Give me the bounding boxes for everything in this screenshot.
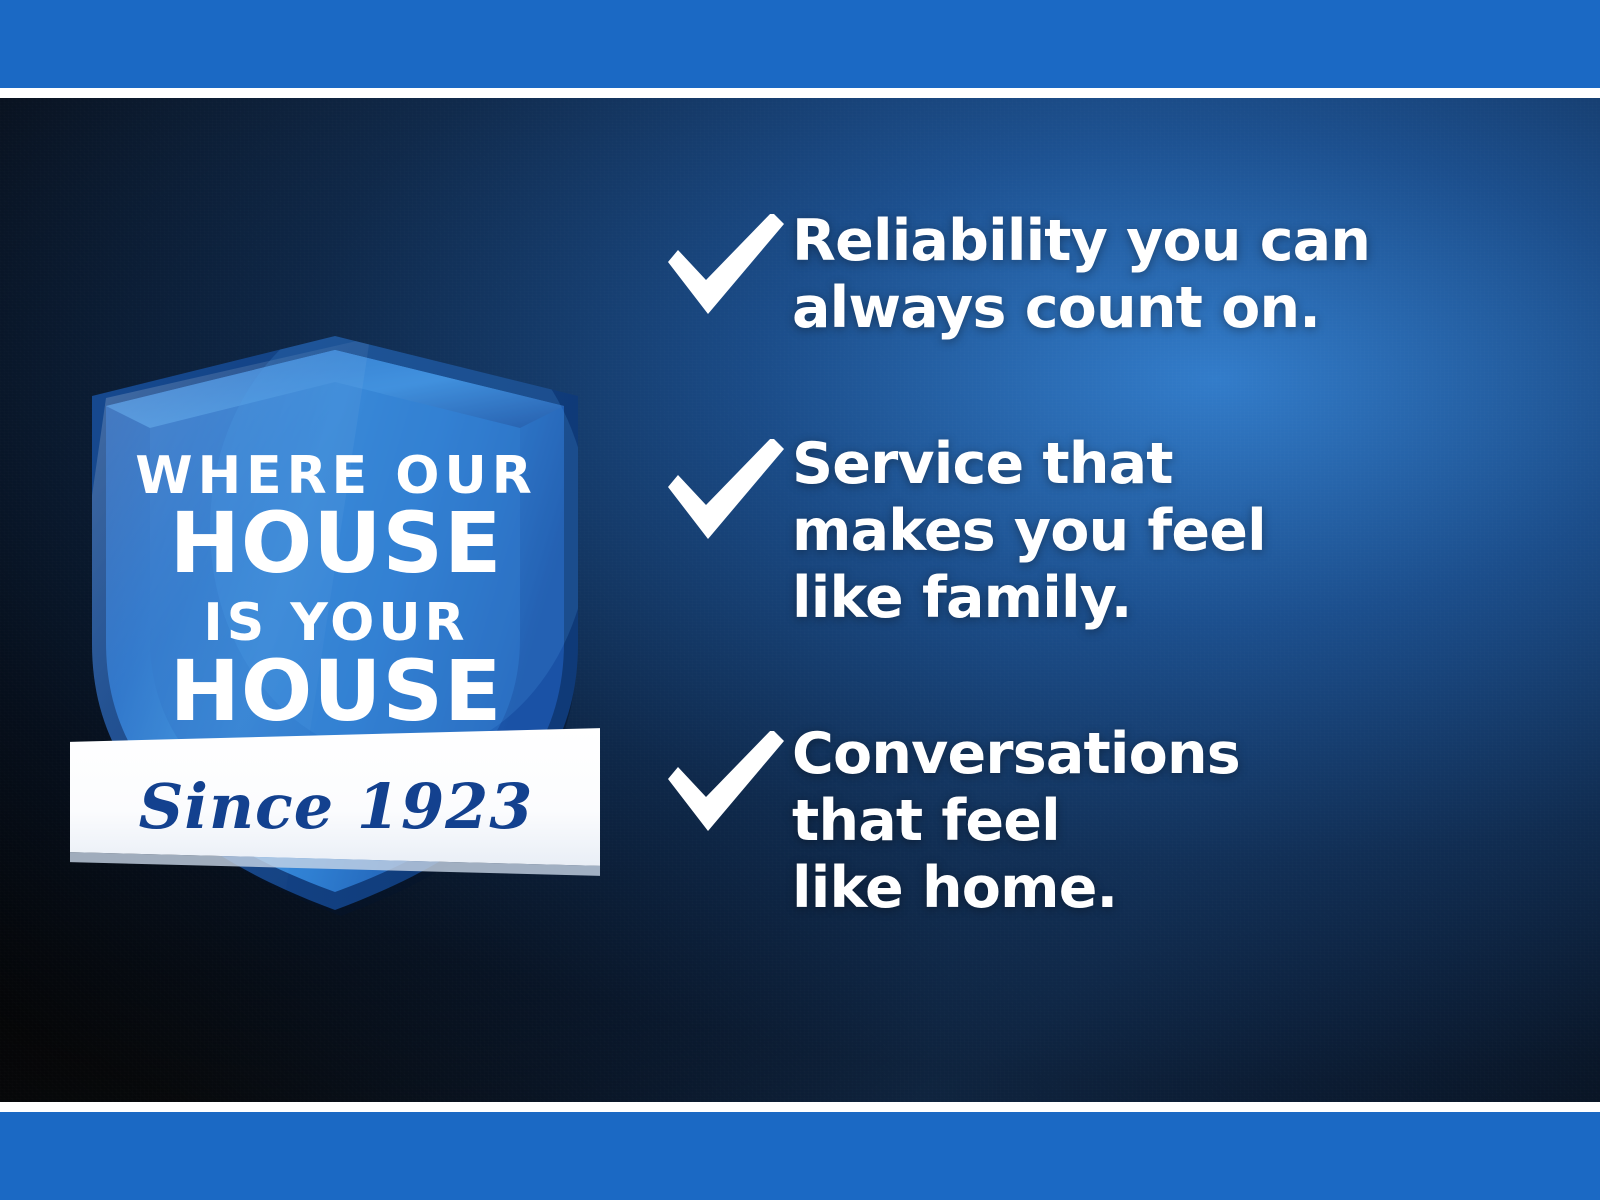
badge-l2: HOUSE bbox=[170, 494, 503, 592]
check-icon bbox=[660, 427, 792, 549]
checklist-item: Conversations that feel like home. bbox=[660, 717, 1540, 921]
check-icon bbox=[660, 208, 792, 324]
promo-poster: WHERE OUR HOUSE IS YOUR HOUSE Since 1923 bbox=[0, 0, 1600, 1200]
bottom-bar-divider bbox=[0, 1102, 1600, 1112]
checklist-item: Reliability you can always count on. bbox=[660, 208, 1540, 341]
benefits-checklist: Reliability you can always count on. Ser… bbox=[660, 208, 1540, 922]
checklist-item: Service that makes you feel like family. bbox=[660, 427, 1540, 631]
checklist-item-text: Conversations that feel like home. bbox=[792, 717, 1240, 921]
since-1923-badge: WHERE OUR HOUSE IS YOUR HOUSE Since 1923 bbox=[70, 278, 600, 928]
badge-ribbon: Since 1923 bbox=[139, 770, 534, 843]
top-brand-bar bbox=[0, 0, 1600, 88]
check-icon bbox=[660, 717, 792, 841]
top-bar-divider bbox=[0, 88, 1600, 98]
poster-stage: WHERE OUR HOUSE IS YOUR HOUSE Since 1923 bbox=[0, 98, 1600, 1102]
checklist-item-text: Service that makes you feel like family. bbox=[792, 427, 1266, 631]
bottom-brand-bar bbox=[0, 1112, 1600, 1200]
checklist-item-text: Reliability you can always count on. bbox=[792, 208, 1370, 341]
badge-l4: HOUSE bbox=[170, 642, 503, 740]
